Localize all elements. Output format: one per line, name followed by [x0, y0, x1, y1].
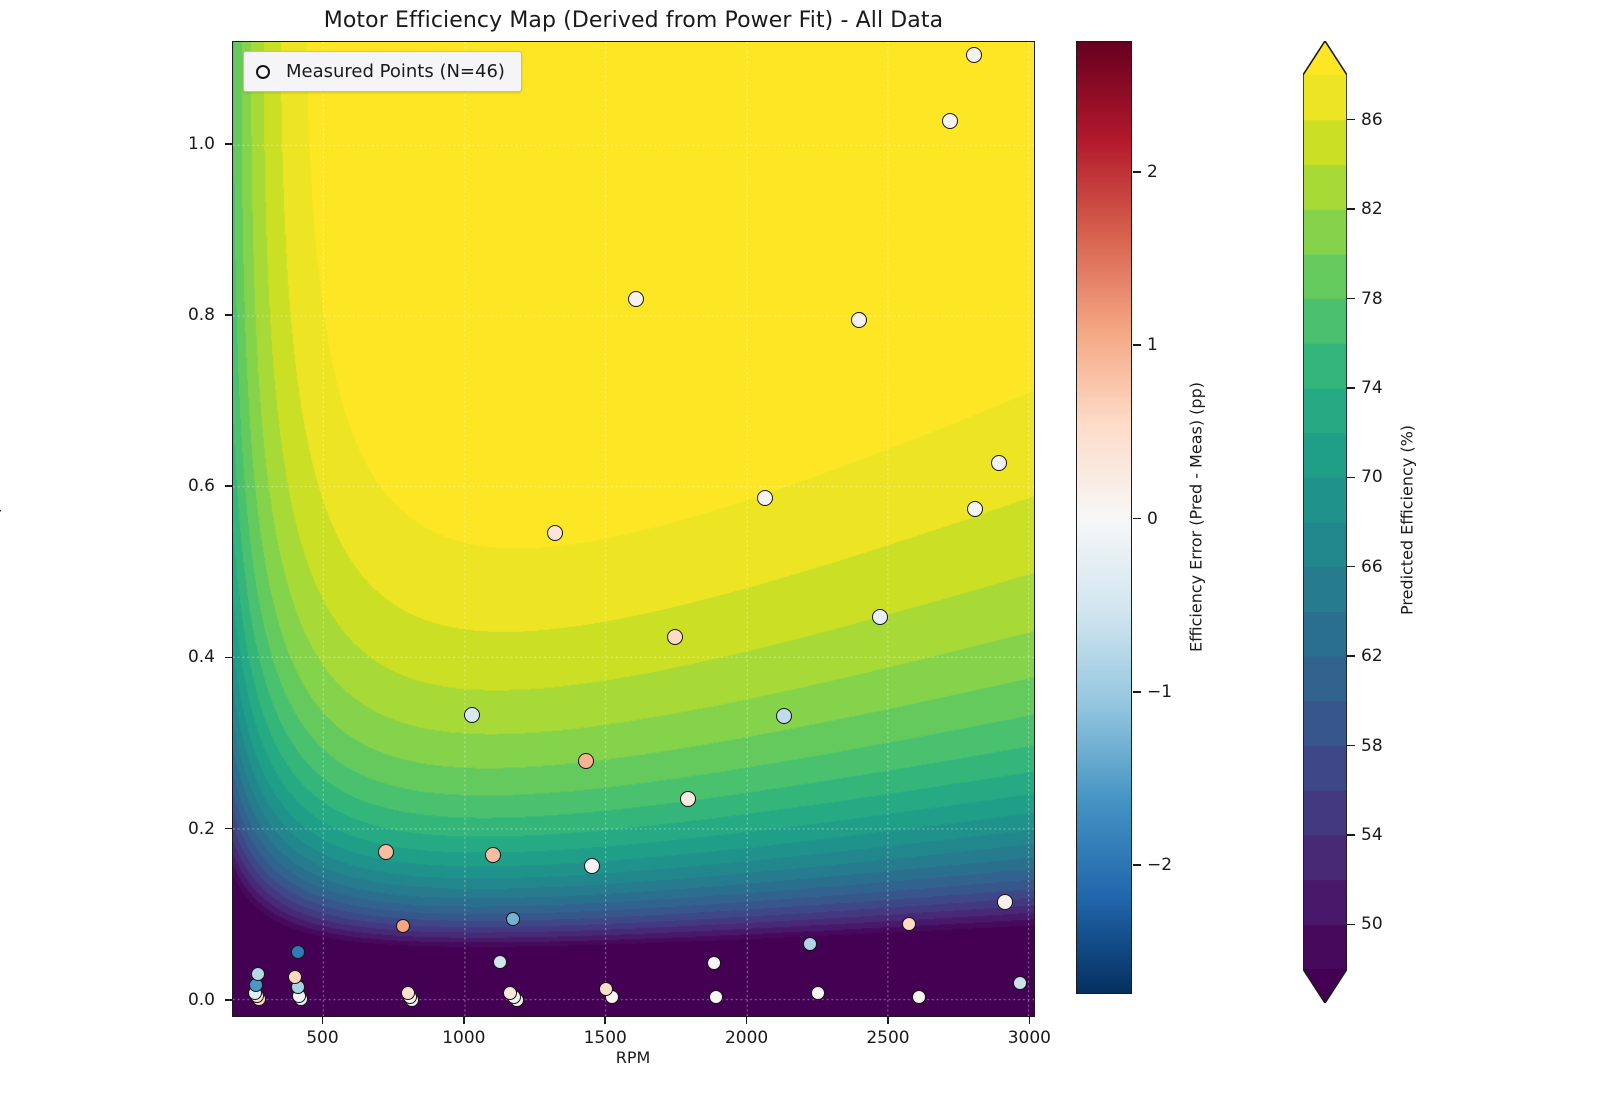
measured-point	[378, 844, 394, 860]
efficiency-colorbar-tick	[1347, 924, 1355, 926]
measured-point	[667, 629, 683, 645]
x-tick-mark	[1029, 1017, 1031, 1024]
y-tick-mark	[225, 999, 232, 1001]
x-tick-mark	[322, 1017, 324, 1024]
x-tick-mark	[604, 1017, 606, 1024]
measured-point	[966, 47, 982, 63]
measured-point	[942, 113, 958, 129]
error-colorbar-label: Efficiency Error (Pred - Meas) (pp)	[1187, 382, 1206, 652]
measured-point	[912, 990, 926, 1004]
measured-point	[709, 990, 723, 1004]
efficiency-colorbar-swatches	[1303, 41, 1347, 1003]
x-tick-mark	[463, 1017, 465, 1024]
measured-point	[584, 858, 600, 874]
y-tick-label: 0.6	[145, 476, 215, 496]
measured-point	[803, 937, 817, 951]
y-tick-mark	[225, 828, 232, 830]
measured-point	[967, 501, 983, 517]
y-tick-label: 0.0	[145, 990, 215, 1010]
x-tick-mark	[887, 1017, 889, 1024]
measured-point	[991, 455, 1007, 471]
y-tick-mark	[225, 657, 232, 659]
measured-point	[493, 955, 507, 969]
y-tick-label: 0.4	[145, 647, 215, 667]
x-tick-label: 3000	[984, 1028, 1074, 1048]
legend-marker-icon	[256, 65, 270, 79]
measured-point	[599, 982, 613, 996]
x-tick-mark	[746, 1017, 748, 1024]
measured-point	[872, 609, 888, 625]
y-tick-label: 0.8	[145, 305, 215, 325]
measured-point	[757, 490, 773, 506]
efficiency-colorbar-tick	[1347, 834, 1355, 836]
measured-point	[464, 707, 480, 723]
measured-point	[396, 919, 410, 933]
efficiency-colorbar-tick-label: 54	[1361, 825, 1383, 845]
efficiency-colorbar-tick-label: 50	[1361, 914, 1383, 934]
error-colorbar-tick	[1133, 691, 1141, 693]
efficiency-colorbar-label: Predicted Efficiency (%)	[1398, 425, 1417, 615]
y-tick-label: 0.2	[145, 819, 215, 839]
efficiency-colorbar-tick-label: 62	[1361, 646, 1383, 666]
error-colorbar-tick	[1133, 518, 1141, 520]
measured-point	[506, 912, 520, 926]
measured-point	[707, 956, 721, 970]
x-tick-label: 2500	[843, 1028, 933, 1048]
measured-point	[503, 986, 517, 1000]
error-colorbar-tick-label: 1	[1147, 335, 1158, 355]
x-axis-label: RPM	[616, 1048, 651, 1067]
measured-point	[578, 753, 594, 769]
efficiency-colorbar-tick-label: 74	[1361, 378, 1383, 398]
measured-point	[811, 986, 825, 1000]
chart-title: Motor Efficiency Map (Derived from Power…	[232, 8, 1035, 33]
measured-point	[680, 791, 696, 807]
efficiency-colorbar-tick	[1347, 745, 1355, 747]
efficiency-colorbar-tick	[1347, 655, 1355, 657]
efficiency-colorbar-tick	[1347, 119, 1355, 121]
measured-point	[628, 291, 644, 307]
x-tick-label: 500	[277, 1028, 367, 1048]
error-colorbar-tick-label: 2	[1147, 162, 1158, 182]
efficiency-colorbar: 50545862667074788286	[1303, 41, 1347, 1003]
error-colorbar-tick-label: 0	[1147, 509, 1158, 529]
figure-root: Motor Efficiency Map (Derived from Power…	[0, 0, 1600, 1095]
error-colorbar-tick	[1133, 171, 1141, 173]
efficiency-colorbar-tick	[1347, 566, 1355, 568]
efficiency-colorbar-tick-label: 70	[1361, 467, 1383, 487]
plot-area	[232, 41, 1035, 1017]
efficiency-colorbar-tick-label: 66	[1361, 557, 1383, 577]
measured-point	[851, 312, 867, 328]
measured-point	[251, 967, 265, 981]
efficiency-colorbar-tick	[1347, 477, 1355, 479]
measured-point	[291, 945, 305, 959]
y-tick-mark	[225, 314, 232, 316]
measured-point	[997, 894, 1013, 910]
efficiency-colorbar-tick-label: 78	[1361, 289, 1383, 309]
x-tick-label: 2000	[702, 1028, 792, 1048]
measured-point	[902, 917, 916, 931]
error-colorbar-tick-label: −1	[1147, 682, 1172, 702]
error-colorbar-tick	[1133, 344, 1141, 346]
efficiency-colorbar-tick	[1347, 387, 1355, 389]
measured-point	[288, 970, 302, 984]
efficiency-colorbar-tick	[1347, 298, 1355, 300]
measured-point	[485, 847, 501, 863]
error-colorbar-gradient	[1077, 42, 1131, 993]
legend[interactable]: Measured Points (N=46)	[243, 51, 522, 92]
y-tick-mark	[225, 143, 232, 145]
error-colorbar-tick	[1133, 864, 1141, 866]
legend-label: Measured Points (N=46)	[286, 61, 505, 82]
measured-points-layer	[233, 42, 1034, 1016]
x-tick-label: 1500	[560, 1028, 650, 1048]
efficiency-colorbar-tick	[1347, 208, 1355, 210]
measured-point	[1013, 976, 1027, 990]
efficiency-colorbar-tick-label: 58	[1361, 736, 1383, 756]
y-axis-label: Torque (N·m)	[0, 438, 2, 542]
y-tick-label: 1.0	[145, 134, 215, 154]
error-colorbar: −2−1012	[1076, 41, 1132, 994]
x-tick-label: 1000	[419, 1028, 509, 1048]
measured-point	[401, 986, 415, 1000]
error-colorbar-tick-label: −2	[1147, 855, 1172, 875]
efficiency-colorbar-tick-label: 82	[1361, 199, 1383, 219]
y-tick-mark	[225, 485, 232, 487]
measured-point	[776, 708, 792, 724]
measured-point	[547, 525, 563, 541]
efficiency-colorbar-tick-label: 86	[1361, 110, 1383, 130]
